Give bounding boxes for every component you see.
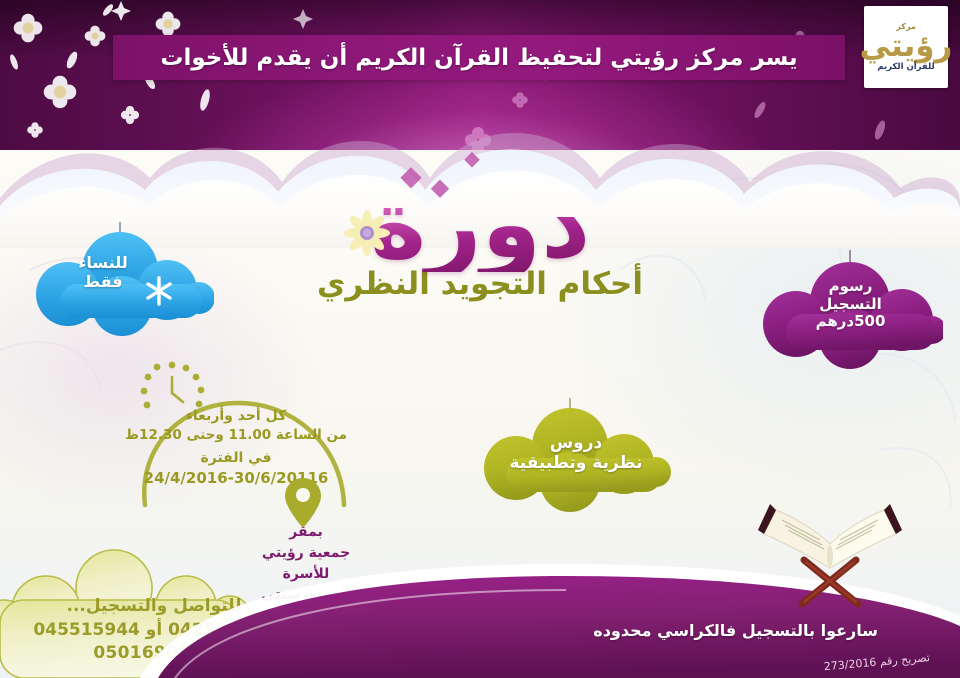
badge-fee-line1: رسوم <box>758 278 943 296</box>
poster-canvas: يسر مركز رؤيتي لتحفيظ القرآن الكريم أن ي… <box>0 0 960 678</box>
badge-women-only-line1: للنساء <box>44 254 162 273</box>
schedule-time: من الساعة 11.00 وحتى 12.30ظ <box>112 426 360 446</box>
badge-fee-line2: التسجيل <box>758 296 943 314</box>
badge-lessons-line1: دروس <box>478 433 674 453</box>
schedule-days: كل أحد وأربعاء <box>112 406 360 426</box>
course-title: دورة <box>370 176 591 272</box>
logo-bottom-text: للقرآن الكريم <box>877 62 934 72</box>
schedule-period-label: في الفترة <box>112 448 360 468</box>
badge-women-only: للنساء فقط <box>34 222 214 340</box>
badge-lessons-type: دروس نظرية وتطبيقية <box>478 398 674 514</box>
logo-calligraphy-mark: رؤيتي <box>860 32 953 61</box>
open-quran-on-rehal-icon <box>746 492 914 610</box>
header-ribbon-text: يسر مركز رؤيتي لتحفيظ القرآن الكريم أن ي… <box>160 45 797 71</box>
daisy-flower-icon <box>344 210 390 256</box>
header-ribbon: يسر مركز رؤيتي لتحفيظ القرآن الكريم أن ي… <box>113 35 845 80</box>
badge-fee-text: رسوم التسجيل 500درهم <box>758 278 943 331</box>
badge-registration-fee: رسوم التسجيل 500درهم <box>758 250 943 372</box>
footer-cta-text: سارعوا بالتسجيل فالكراسي محدوده <box>593 621 878 640</box>
badge-lessons-line2: نظرية وتطبيقية <box>478 453 674 473</box>
clock-icon <box>141 362 205 409</box>
badge-fee-line3: 500درهم <box>758 313 943 331</box>
badge-lessons-text: دروس نظرية وتطبيقية <box>478 433 674 473</box>
asterisk-star-icon <box>142 274 176 308</box>
center-logo: مركز رؤيتي للقرآن الكريم <box>864 6 948 88</box>
